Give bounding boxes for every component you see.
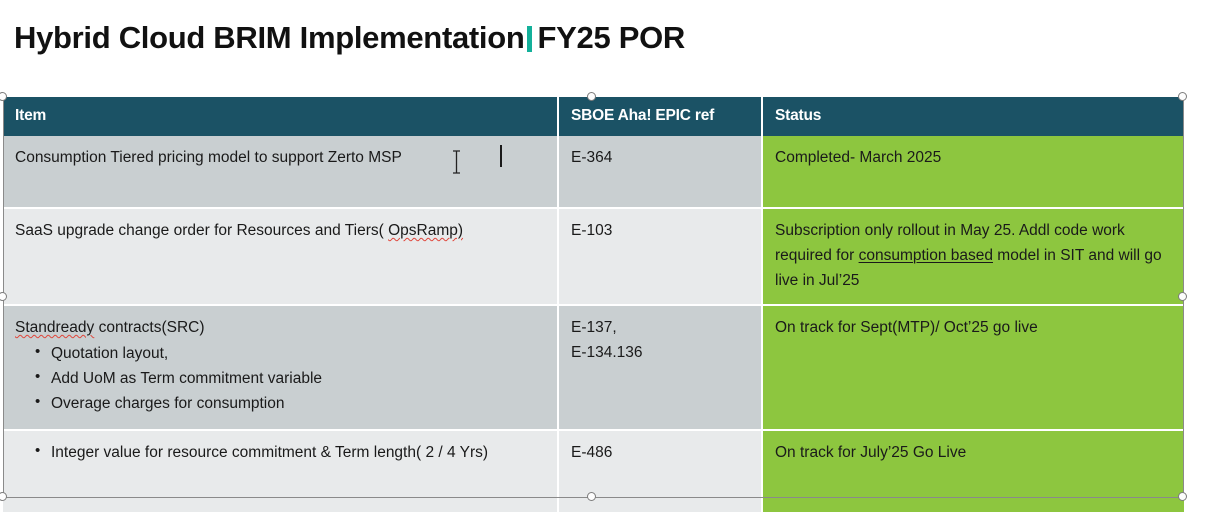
resize-handle-bottom-center[interactable]	[587, 492, 596, 501]
cell-item-misspelled-word: OpsRamp)	[388, 222, 463, 239]
cell-item-text-part-1: Consumption Tiered pricing model to supp…	[15, 149, 364, 166]
cell-status[interactable]: Completed- March 2025	[762, 136, 1184, 208]
cell-item-heading-rest: contracts(SRC)	[94, 319, 204, 336]
status-text: On track for Sept(MTP)/ Oct’25 go live	[775, 319, 1038, 336]
table-row[interactable]: SaaS upgrade change order for Resources …	[3, 208, 1184, 305]
cell-status[interactable]: Subscription only rollout in May 25. Add…	[762, 208, 1184, 305]
page-title-suffix: FY25 POR	[538, 20, 685, 55]
cell-epic-ref[interactable]: E-137, E-134.136	[558, 305, 762, 430]
cell-item[interactable]: Standready contracts(SRC) Quotation layo…	[3, 305, 558, 430]
por-table[interactable]: Item SBOE Aha! EPIC ref Status Consumpti…	[3, 97, 1184, 512]
page-title-main: Hybrid Cloud BRIM Implementation	[14, 20, 525, 55]
status-text-underlined: consumption based	[859, 247, 993, 264]
slide-canvas: Hybrid Cloud BRIM ImplementationFY25 POR…	[0, 0, 1205, 511]
cell-epic-ref[interactable]: E-103	[558, 208, 762, 305]
cell-item[interactable]: Integer value for resource commitment & …	[3, 430, 558, 512]
status-text: Completed- March 2025	[775, 149, 941, 166]
cell-item-misspelled-word: Standready	[15, 319, 94, 336]
cell-item-heading: Standready contracts(SRC)	[15, 315, 545, 340]
table-header-row: Item SBOE Aha! EPIC ref Status	[3, 97, 1184, 136]
table-body: Consumption Tiered pricing model to supp…	[3, 136, 1184, 512]
table-header: Item SBOE Aha! EPIC ref Status	[3, 97, 1184, 136]
list-item: Quotation layout,	[35, 341, 545, 366]
epic-ref-line: E-364	[571, 145, 749, 170]
epic-ref-line: E-103	[571, 218, 749, 243]
resize-handle-top-center[interactable]	[587, 92, 596, 101]
epic-ref-line: E-486	[571, 440, 749, 465]
cell-item-bullet-list: Quotation layout, Add UoM as Term commit…	[15, 341, 545, 416]
cell-item-text-part-2: MSP	[368, 149, 402, 166]
cell-item-bullet-list: Integer value for resource commitment & …	[15, 440, 545, 465]
status-text: On track for July’25 Go Live	[775, 444, 966, 461]
column-header-item[interactable]: Item	[3, 97, 558, 136]
cell-epic-ref[interactable]: E-364	[558, 136, 762, 208]
title-separator-bar	[527, 26, 532, 52]
column-header-status[interactable]: Status	[762, 97, 1184, 136]
column-header-epic-ref[interactable]: SBOE Aha! EPIC ref	[558, 97, 762, 136]
page-title[interactable]: Hybrid Cloud BRIM ImplementationFY25 POR	[14, 18, 685, 58]
cell-item-text-part-1: SaaS upgrade change order for Resources …	[15, 222, 384, 239]
list-item: Add UoM as Term commitment variable	[35, 366, 545, 391]
cell-status[interactable]: On track for Sept(MTP)/ Oct’25 go live	[762, 305, 1184, 430]
resize-handle-bottom-right[interactable]	[1178, 492, 1187, 501]
list-item: Integer value for resource commitment & …	[35, 440, 545, 465]
table-row[interactable]: Standready contracts(SRC) Quotation layo…	[3, 305, 1184, 430]
cell-item[interactable]: SaaS upgrade change order for Resources …	[3, 208, 558, 305]
text-insertion-caret	[500, 145, 502, 167]
list-item: Overage charges for consumption	[35, 391, 545, 416]
epic-ref-line: E-134.136	[571, 340, 749, 365]
resize-handle-top-right[interactable]	[1178, 92, 1187, 101]
epic-ref-line: E-137,	[571, 315, 749, 340]
cell-status[interactable]: On track for July’25 Go Live	[762, 430, 1184, 512]
table-row[interactable]: Consumption Tiered pricing model to supp…	[3, 136, 1184, 208]
resize-handle-middle-right[interactable]	[1178, 292, 1187, 301]
cell-item[interactable]: Consumption Tiered pricing model to supp…	[3, 136, 558, 208]
por-table-container[interactable]: Item SBOE Aha! EPIC ref Status Consumpti…	[3, 97, 1184, 497]
